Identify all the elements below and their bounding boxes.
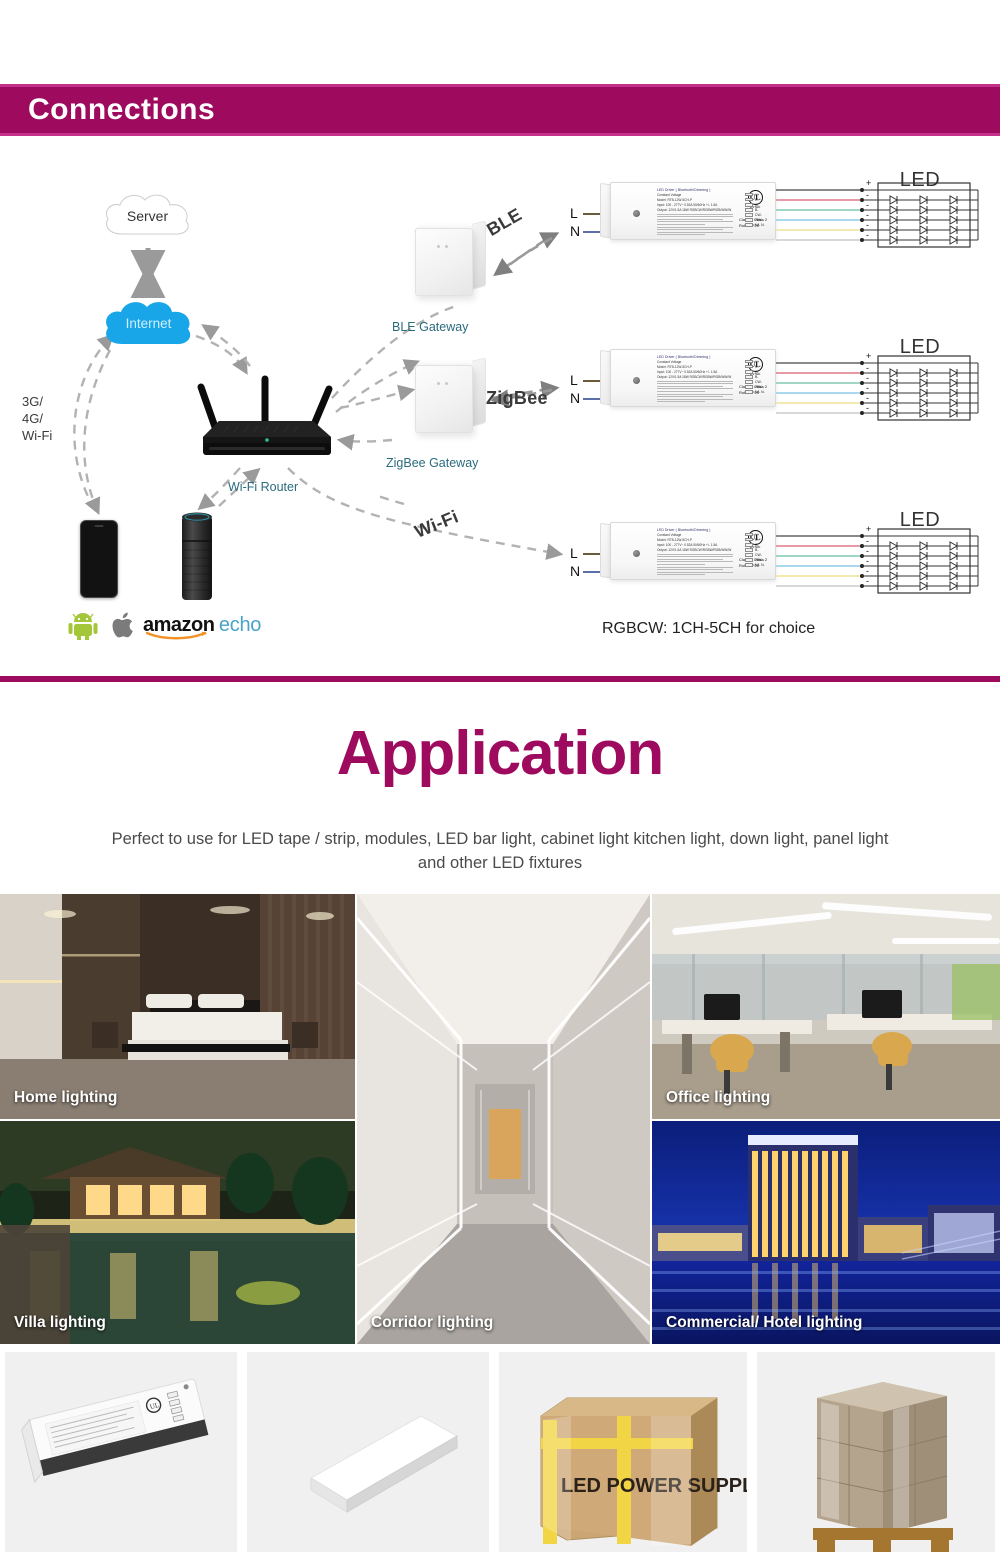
hotel-lighting-photo [652, 1121, 1000, 1344]
ble-gateway [415, 218, 493, 296]
server-label: Server [100, 208, 195, 224]
output-terminal-block: V+ R- G- B- CW- WW- N/L N- [745, 532, 771, 568]
application-gallery: Home lighting Vil [0, 894, 1000, 1344]
led-driver-3: LED Driver ( Bluetooth/Dimming ) Constan… [600, 522, 776, 584]
villa-lighting-photo [0, 1121, 355, 1344]
neutral-terminal-label: N [570, 390, 580, 406]
amazon-smile-icon [145, 631, 215, 640]
driver-label-2: LED Driver ( Bluetooth/Dimming ) Constan… [657, 355, 735, 402]
server-cloud: Server [100, 190, 195, 240]
live-terminal-label: L [570, 545, 578, 561]
carton-photo: LED POWER SUPPLY [499, 1352, 747, 1552]
gateway-led-indicators [437, 235, 453, 238]
packaging-item-pallet[interactable] [757, 1352, 995, 1552]
driver-product-photo: UL [5, 1352, 237, 1552]
application-divider-band [0, 676, 1000, 682]
corridor-lighting-photo [357, 894, 650, 1344]
gateway-led-indicators [437, 372, 453, 375]
mounting-screw [633, 377, 640, 384]
driver-subtitle: Constant Voltage [657, 193, 735, 197]
echo-wordmark: echo [219, 614, 261, 636]
page-title: Connections [28, 93, 215, 127]
android-icon [69, 613, 98, 640]
gallery-item-home[interactable]: Home lighting [0, 894, 355, 1119]
connections-diagram: Server Internet 3G/ 4G/ Wi-Fi [0, 150, 1000, 670]
amazon-echo-device [180, 510, 214, 602]
office-lighting-photo [652, 894, 1000, 1119]
led-array-caption: LED [860, 336, 980, 359]
driver-output: Output: 12V/1.5A 18W RGBCW/RGBW/RGB/WW/W [657, 208, 735, 212]
ble-gateway-label: BLE Gateway [392, 320, 468, 334]
neutral-terminal-label: N [570, 223, 580, 239]
internet-label: Internet [100, 316, 197, 331]
zigbee-gateway-label: ZigBee Gateway [386, 456, 478, 470]
home-lighting-photo [0, 894, 355, 1119]
connections-header: Connections [0, 84, 1000, 136]
wifi-router [193, 365, 338, 465]
driver-input: Input: 100 - 277V~ 0.52A 50/60Hz +/- 1.5… [657, 203, 735, 207]
smartphone [80, 520, 118, 598]
live-terminal-label: L [570, 372, 578, 388]
led-array-1: LED [860, 195, 980, 273]
output-terminal-block: V+ R- G- B- CW- WW- N/L N- [745, 192, 771, 228]
os-logos [68, 612, 138, 640]
internet-cloud: Internet [100, 298, 197, 350]
mounting-screw [633, 550, 640, 557]
pallet-photo [757, 1352, 995, 1552]
packaging-item-box[interactable] [247, 1352, 489, 1552]
led-array-2: LED [860, 362, 980, 440]
white-box-photo [247, 1352, 489, 1552]
led-array-3: LED [860, 535, 980, 613]
packaging-item-driver[interactable]: UL [5, 1352, 237, 1552]
router-label: Wi-Fi Router [228, 480, 298, 494]
zigbee-gateway [415, 355, 493, 433]
gallery-item-office[interactable]: Office lighting [652, 894, 1000, 1119]
apple-icon [113, 613, 133, 638]
gallery-caption: Commercial/ Hotel lighting [666, 1314, 862, 1332]
driver-label-1: LED Driver ( Bluetooth/Dimming ) Constan… [657, 188, 735, 235]
driver-label-3: LED Driver ( Bluetooth/Dimming ) Constan… [657, 528, 735, 575]
live-terminal-label: L [570, 205, 578, 221]
led-array-caption: LED [860, 169, 980, 192]
mounting-screw [633, 210, 640, 217]
channel-note: RGBCW: 1CH-5CH for choice [602, 620, 815, 638]
led-array-caption: LED [860, 509, 980, 532]
gallery-caption: Villa lighting [14, 1314, 106, 1332]
neutral-terminal-label: N [570, 563, 580, 579]
mobile-network-label: 3G/ 4G/ Wi-Fi [22, 393, 52, 444]
application-subtitle: Perfect to use for LED tape / strip, mod… [110, 828, 890, 876]
echo-icon [180, 510, 214, 602]
protocol-label-zigbee: ZigBee [486, 388, 548, 409]
gallery-caption: Corridor lighting [371, 1314, 493, 1332]
gallery-item-villa[interactable]: Villa lighting [0, 1121, 355, 1344]
gallery-item-hotel[interactable]: Commercial/ Hotel lighting [652, 1121, 1000, 1344]
driver-model: Model: RTB-12W-5CH-P [657, 198, 735, 202]
driver-title: LED Driver ( Bluetooth/Dimming ) [657, 188, 735, 192]
gallery-item-corridor[interactable]: Corridor lighting [357, 894, 650, 1344]
router-icon [193, 365, 338, 465]
gallery-caption: Office lighting [666, 1089, 770, 1107]
led-driver-2: LED Driver ( Bluetooth/Dimming ) Constan… [600, 349, 776, 411]
application-title: Application [0, 718, 1000, 789]
gallery-caption: Home lighting [14, 1089, 117, 1107]
packaging-row: UL [0, 1352, 1000, 1552]
output-terminal-block: V+ R- G- B- CW- WW- N/L N- [745, 359, 771, 395]
amazon-echo-logo: amazon echo [143, 614, 261, 637]
packaging-item-carton[interactable]: LED POWER SUPPLY [499, 1352, 747, 1552]
led-driver-1: LED Driver ( Bluetooth/Dimming ) Constan… [600, 182, 776, 244]
